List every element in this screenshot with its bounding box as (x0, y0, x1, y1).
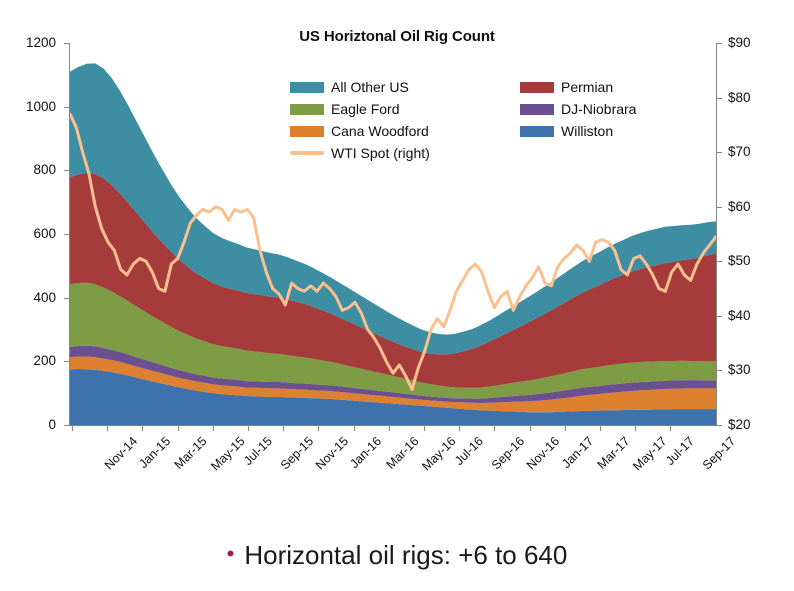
y-axis-left-label: 1200 (4, 36, 56, 50)
y-axis-right-line (716, 43, 717, 426)
y-axis-right-tick (716, 43, 722, 44)
legend-item-permian[interactable]: Permian (520, 76, 710, 98)
x-axis-tick (142, 425, 143, 431)
y-axis-right-label: $90 (728, 36, 788, 50)
x-axis-tick (318, 425, 319, 431)
x-axis-label: Sep-16 (489, 434, 527, 472)
x-axis-label: Sep-15 (278, 434, 316, 472)
y-axis-right-label: $30 (728, 363, 788, 377)
y-axis-left-label: 800 (4, 163, 56, 177)
legend-swatch-icon (290, 151, 324, 155)
legend-item-cana-woodford[interactable]: Cana Woodford (290, 120, 520, 142)
x-axis-label: May-15 (208, 434, 247, 473)
y-axis-right-label: $60 (728, 200, 788, 214)
x-axis-label: Mar-16 (384, 434, 422, 472)
y-axis-right-label: $40 (728, 309, 788, 323)
y-axis-right-tick (716, 370, 722, 371)
x-axis-line (69, 425, 717, 426)
x-axis-tick (107, 425, 108, 431)
x-axis-tick (459, 425, 460, 431)
x-axis-tick (178, 425, 179, 431)
x-axis-label: Jan-16 (347, 434, 384, 471)
caption: •Horizontal oil rigs: +6 to 640 (0, 540, 794, 571)
x-axis-tick (635, 425, 636, 431)
x-axis-label: May-16 (419, 434, 458, 473)
x-axis-tick (530, 425, 531, 431)
y-axis-left-label: 0 (4, 418, 56, 432)
bullet-icon: • (227, 541, 235, 566)
x-axis-label: May-17 (630, 434, 669, 473)
x-axis-tick (389, 425, 390, 431)
x-axis-tick (354, 425, 355, 431)
legend-item-dj-niobrara[interactable]: DJ-Niobrara (520, 98, 710, 120)
legend-item-all-other-us[interactable]: All Other US (290, 76, 520, 98)
y-axis-right-tick (716, 98, 722, 99)
legend-label: Cana Woodford (331, 124, 429, 138)
x-axis-tick (494, 425, 495, 431)
x-axis-label: Jul-15 (241, 434, 275, 468)
y-axis-left-label: 600 (4, 227, 56, 241)
x-axis-label: Mar-15 (172, 434, 210, 472)
x-axis-label: Jul-17 (663, 434, 697, 468)
legend-swatch-icon (520, 104, 554, 115)
legend-label: DJ-Niobrara (561, 102, 636, 116)
y-axis-left-label: 1000 (4, 100, 56, 114)
y-axis-left-tick (64, 298, 70, 299)
y-axis-right-label: $50 (728, 254, 788, 268)
y-axis-right-tick (716, 425, 722, 426)
slide-root: US Horiztonal Oil Rig Count 020040060080… (0, 0, 794, 591)
legend-item-eagle-ford[interactable]: Eagle Ford (290, 98, 520, 120)
y-axis-left-tick (64, 425, 70, 426)
legend-swatch-icon (520, 82, 554, 93)
x-axis-label: Nov-15 (313, 434, 351, 472)
x-axis-tick (670, 425, 671, 431)
y-axis-left-tick (64, 170, 70, 171)
chart-container: US Horiztonal Oil Rig Count 020040060080… (0, 0, 794, 520)
y-axis-left-tick (64, 234, 70, 235)
x-axis-tick (424, 425, 425, 431)
x-axis-label: Jul-16 (452, 434, 486, 468)
y-axis-left-tick (64, 107, 70, 108)
x-axis-tick (213, 425, 214, 431)
y-axis-left-label: 400 (4, 291, 56, 305)
y-axis-right-tick (716, 152, 722, 153)
x-axis-tick (283, 425, 284, 431)
x-axis-tick (565, 425, 566, 431)
legend-swatch-icon (290, 104, 324, 115)
x-axis-tick (600, 425, 601, 431)
y-axis-left-tick (64, 43, 70, 44)
y-axis-right-tick (716, 261, 722, 262)
legend-label: WTI Spot (right) (331, 146, 430, 160)
chart-legend: All Other USPermianEagle FordDJ-Niobrara… (290, 76, 710, 164)
x-axis-tick (248, 425, 249, 431)
legend-swatch-icon (520, 126, 554, 137)
legend-label: Permian (561, 80, 613, 94)
legend-swatch-icon (290, 126, 324, 137)
legend-label: Eagle Ford (331, 102, 399, 116)
x-axis-tick (72, 425, 73, 431)
legend-label: All Other US (331, 80, 409, 94)
x-axis-label: Jan-17 (559, 434, 596, 471)
y-axis-right-label: $80 (728, 91, 788, 105)
legend-item-wti-spot-right[interactable]: WTI Spot (right) (290, 142, 520, 164)
caption-text: Horizontal oil rigs: +6 to 640 (244, 540, 567, 570)
y-axis-right-label: $20 (728, 418, 788, 432)
x-axis-label: Jan-15 (136, 434, 173, 471)
legend-item-williston[interactable]: Williston (520, 120, 710, 142)
legend-swatch-icon (290, 82, 324, 93)
y-axis-left-tick (64, 361, 70, 362)
legend-label: Williston (561, 124, 613, 138)
y-axis-right-tick (716, 316, 722, 317)
y-axis-right-label: $70 (728, 145, 788, 159)
y-axis-right-tick (716, 207, 722, 208)
x-axis-label: Sep-17 (700, 434, 738, 472)
y-axis-left-label: 200 (4, 354, 56, 368)
x-axis-label: Nov-14 (102, 434, 140, 472)
x-axis-label: Nov-16 (524, 434, 562, 472)
x-axis-label: Mar-17 (595, 434, 633, 472)
